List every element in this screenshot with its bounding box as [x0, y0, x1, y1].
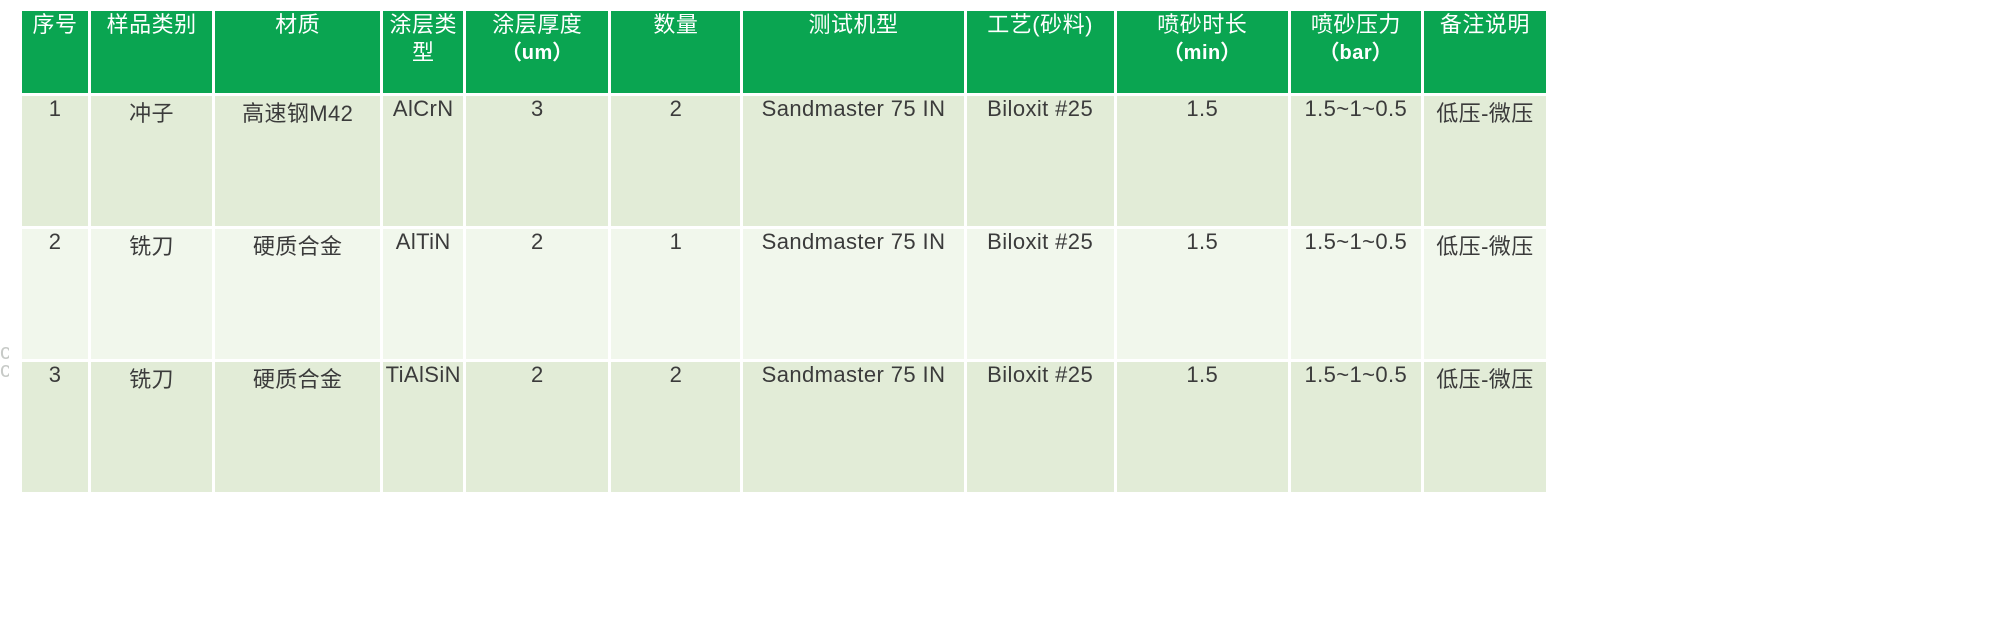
- column-header-index: 序号: [22, 11, 88, 93]
- cell-duration: 1.5: [1117, 96, 1288, 226]
- cell-process: Biloxit #25: [967, 362, 1114, 492]
- column-header-duration-label: 喷砂时长: [1157, 12, 1247, 37]
- column-header-duration: 喷砂时长 （min）: [1117, 11, 1288, 93]
- cell-duration: 1.5: [1117, 362, 1288, 492]
- table-row: 3 铣刀 硬质合金 TiAlSiN 2 2 Sandmaster 75 IN B…: [22, 362, 1546, 492]
- left-edge-artifact: c c: [0, 343, 9, 379]
- cell-pressure: 1.5~1~0.5: [1291, 362, 1421, 492]
- column-header-coating-label: 涂层类型: [389, 12, 457, 65]
- table-header: 序号 样品类别 材质 涂层类型 涂层厚度 （um） 数量: [22, 11, 1546, 93]
- column-header-thickness: 涂层厚度 （um）: [466, 11, 608, 93]
- column-header-pressure-label: 喷砂压力: [1311, 12, 1401, 37]
- cell-process: Biloxit #25: [967, 96, 1114, 226]
- column-header-duration-unit: （min）: [1117, 39, 1288, 67]
- cell-sample: 铣刀: [91, 362, 212, 492]
- cell-index: 1: [22, 96, 88, 226]
- cell-quantity: 2: [611, 96, 740, 226]
- cell-quantity: 1: [611, 229, 740, 359]
- cell-duration: 1.5: [1117, 229, 1288, 359]
- cell-material: 硬质合金: [215, 229, 380, 359]
- column-header-material-label: 材质: [275, 12, 320, 37]
- column-header-process: 工艺(砂料): [967, 11, 1114, 93]
- table-row: 1 冲子 高速钢M42 AlCrN 3 2 Sandmaster 75 IN B…: [22, 96, 1546, 226]
- column-header-thickness-label: 涂层厚度: [492, 12, 582, 37]
- cell-thickness: 3: [466, 96, 608, 226]
- cell-sample: 冲子: [91, 96, 212, 226]
- cell-remark: 低压-微压: [1424, 229, 1546, 359]
- column-header-machine-label: 测试机型: [809, 12, 899, 37]
- column-header-remark-label: 备注说明: [1440, 12, 1530, 37]
- cell-material: 硬质合金: [215, 362, 380, 492]
- cell-coating: AlTiN: [383, 229, 463, 359]
- cell-coating: TiAlSiN: [383, 362, 463, 492]
- cell-index: 2: [22, 229, 88, 359]
- column-header-thickness-unit: （um）: [466, 39, 608, 67]
- cell-pressure: 1.5~1~0.5: [1291, 96, 1421, 226]
- cell-quantity: 2: [611, 362, 740, 492]
- cell-pressure: 1.5~1~0.5: [1291, 229, 1421, 359]
- cell-process: Biloxit #25: [967, 229, 1114, 359]
- column-header-pressure: 喷砂压力 （bar）: [1291, 11, 1421, 93]
- sample-spec-table: 序号 样品类别 材质 涂层类型 涂层厚度 （um） 数量: [19, 8, 1549, 495]
- column-header-coating: 涂层类型: [383, 11, 463, 93]
- cell-sample: 铣刀: [91, 229, 212, 359]
- cell-thickness: 2: [466, 362, 608, 492]
- cell-machine: Sandmaster 75 IN: [743, 96, 963, 226]
- table-row: 2 铣刀 硬质合金 AlTiN 2 1 Sandmaster 75 IN Bil…: [22, 229, 1546, 359]
- column-header-pressure-unit: （bar）: [1291, 39, 1421, 67]
- cell-remark: 低压-微压: [1424, 362, 1546, 492]
- column-header-remark: 备注说明: [1424, 11, 1546, 93]
- column-header-process-label: 工艺(砂料): [987, 12, 1093, 37]
- cell-remark: 低压-微压: [1424, 96, 1546, 226]
- cell-machine: Sandmaster 75 IN: [743, 362, 963, 492]
- table-body: 1 冲子 高速钢M42 AlCrN 3 2 Sandmaster 75 IN B…: [22, 96, 1546, 492]
- column-header-machine: 测试机型: [743, 11, 963, 93]
- cell-material: 高速钢M42: [215, 96, 380, 226]
- column-header-quantity-label: 数量: [653, 12, 698, 37]
- cell-thickness: 2: [466, 229, 608, 359]
- column-header-quantity: 数量: [611, 11, 740, 93]
- column-header-sample-label: 样品类别: [107, 12, 197, 37]
- column-header-sample: 样品类别: [91, 11, 212, 93]
- cell-index: 3: [22, 362, 88, 492]
- cell-machine: Sandmaster 75 IN: [743, 229, 963, 359]
- column-header-index-label: 序号: [33, 12, 78, 37]
- column-header-material: 材质: [215, 11, 380, 93]
- header-row: 序号 样品类别 材质 涂层类型 涂层厚度 （um） 数量: [22, 11, 1546, 93]
- document-page: c c 序号 样品类别 材质: [0, 0, 2015, 637]
- cell-coating: AlCrN: [383, 96, 463, 226]
